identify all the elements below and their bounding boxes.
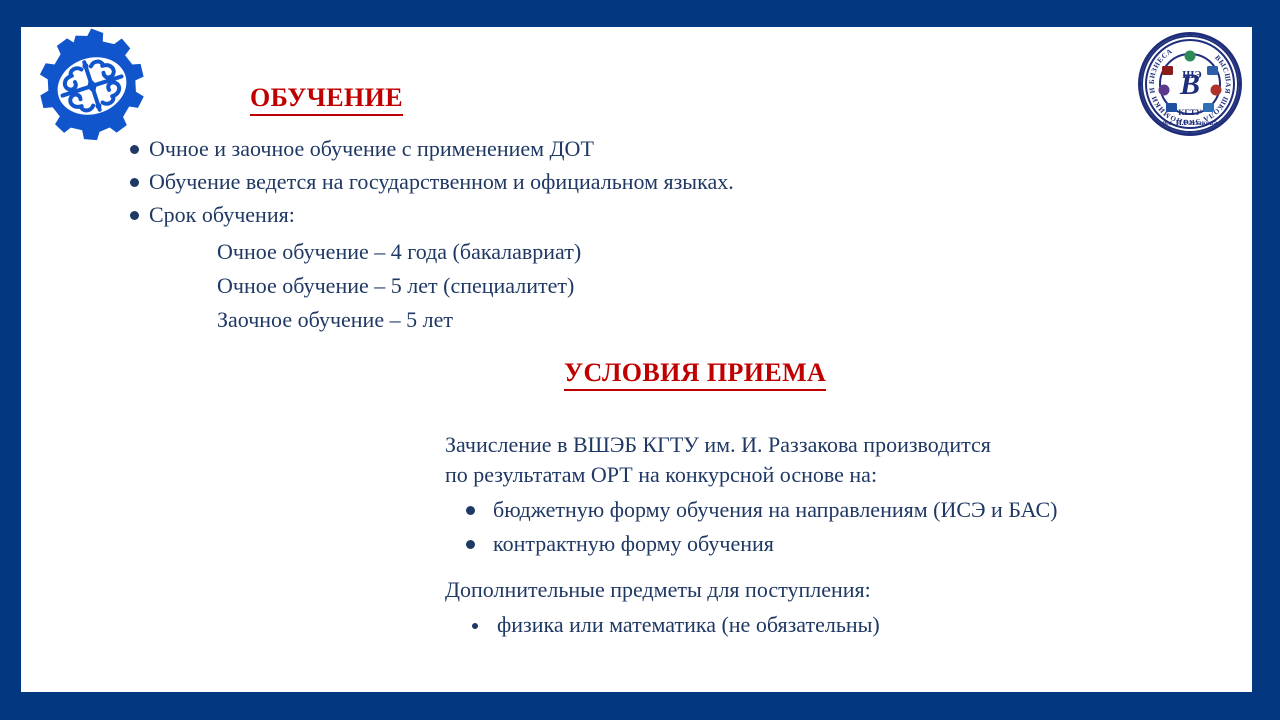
bullet-dot-icon (130, 178, 139, 187)
list-item-label: Очное и заочное обучение с применением Д… (149, 135, 594, 163)
training-term-line: Очное обучение – 4 года (бакалавриат) (217, 237, 581, 271)
extra-subjects-label: Дополнительные предметы для поступления: (445, 576, 1235, 606)
extra-subjects-list: физика или математика (не обязательны) (445, 610, 1235, 644)
admission-intro-line-1: Зачисление в ВШЭБ КГТУ им. И. Раззакова … (445, 431, 1235, 461)
training-bullet-list: Очное и заочное обучение с применением Д… (113, 135, 1153, 234)
section-title-admission-text: УСЛОВИЯ ПРИЕМА (564, 358, 826, 391)
admission-block: Зачисление в ВШЭБ КГТУ им. И. Раззакова … (445, 431, 1235, 644)
svg-text:ШЭ: ШЭ (1182, 69, 1202, 81)
vsheb-kstu-emblem: ВЫСШАЯ ШКОЛА ЭКОНОМИКИ И БИЗНЕСА В ШЭ (1134, 28, 1246, 140)
bullet-dot-icon (130, 145, 139, 154)
training-term-line: Заочное обучение – 5 лет (217, 305, 581, 339)
list-item-label: бюджетную форму обучения на направлениям… (493, 497, 1057, 522)
bullet-dot-icon (472, 623, 478, 629)
list-item-label: Обучение ведется на государственном и оф… (149, 168, 734, 196)
page-title-training: ОБУЧЕНИЕ (250, 83, 403, 116)
page-title-training-text: ОБУЧЕНИЕ (250, 83, 403, 116)
admission-forms-list: бюджетную форму обучения на направлениям… (445, 495, 1235, 563)
bullet-dot-icon (466, 540, 475, 549)
svg-text:им. И.Раззакова: им. И.Раззакова (1163, 118, 1218, 127)
list-item: Очное и заочное обучение с применением Д… (113, 135, 1153, 168)
slide-content-area: ВЫСШАЯ ШКОЛА ЭКОНОМИКИ И БИЗНЕСА В ШЭ (21, 27, 1252, 692)
list-item-label: физика или математика (не обязательны) (497, 612, 880, 637)
list-item: Срок обучения: (113, 201, 1153, 234)
admission-intro-line-2: по результатам ОРТ на конкурсной основе … (445, 461, 1235, 491)
training-term-line: Очное обучение – 5 лет (специалитет) (217, 271, 581, 305)
slide: ВЫСШАЯ ШКОЛА ЭКОНОМИКИ И БИЗНЕСА В ШЭ (0, 0, 1280, 720)
list-item-label: Срок обучения: (149, 201, 295, 229)
svg-text:КГТУ: КГТУ (1178, 107, 1202, 117)
bullet-dot-icon (130, 211, 139, 220)
training-terms-list: Очное обучение – 4 года (бакалавриат) Оч… (217, 237, 581, 339)
list-item: контрактную форму обучения (445, 529, 1235, 563)
bullet-dot-icon (466, 506, 475, 515)
list-item: Обучение ведется на государственном и оф… (113, 168, 1153, 201)
list-item: бюджетную форму обучения на направлениям… (445, 495, 1235, 529)
section-title-admission: УСЛОВИЯ ПРИЕМА (564, 358, 826, 391)
kstu-gear-ornament-logo (31, 27, 153, 147)
list-item-label: контрактную форму обучения (493, 531, 774, 556)
list-item: физика или математика (не обязательны) (445, 610, 1235, 644)
